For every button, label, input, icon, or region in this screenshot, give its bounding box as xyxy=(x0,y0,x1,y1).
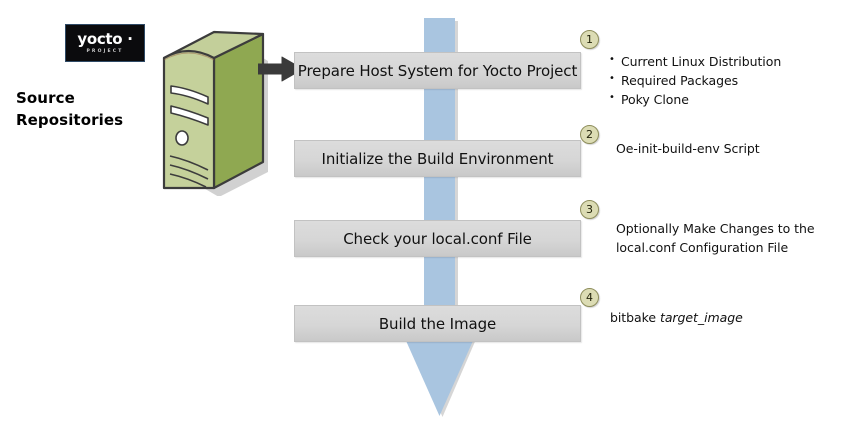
server-tower-icon xyxy=(118,24,268,196)
list-item: Poky Clone xyxy=(608,90,781,109)
source-label-line-2: Repositories xyxy=(16,110,123,132)
step-3-note-line-2: local.conf Configuration File xyxy=(616,238,831,257)
list-item: Current Linux Distribution xyxy=(608,52,781,71)
process-box-prepare-host[interactable]: Prepare Host System for Yocto Project xyxy=(294,52,581,89)
bitbake-command-prefix: bitbake xyxy=(610,310,660,325)
source-label-line-1: Source xyxy=(16,88,123,110)
step-note-3: Optionally Make Changes to the local.con… xyxy=(616,219,831,257)
source-repositories-label: Source Repositories xyxy=(16,88,123,132)
step-3-note-line-1: Optionally Make Changes to the xyxy=(616,219,831,238)
step-number-badge-2: 2 xyxy=(580,125,599,144)
step-number-badge-4: 4 xyxy=(580,288,599,307)
process-box-check-local-conf[interactable]: Check your local.conf File xyxy=(294,220,581,257)
process-box-build-image[interactable]: Build the Image xyxy=(294,305,581,342)
step-number-badge-1: 1 xyxy=(580,30,599,49)
step-1-bullet-list: Current Linux Distribution Required Pack… xyxy=(608,52,781,109)
step-number-badge-3: 3 xyxy=(580,200,599,219)
step-note-4: bitbake target_image xyxy=(610,308,743,327)
process-box-initialize-build-env[interactable]: Initialize the Build Environment xyxy=(294,140,581,177)
step-note-1: Current Linux Distribution Required Pack… xyxy=(608,52,781,109)
bitbake-command-target: target_image xyxy=(660,310,743,325)
step-note-2: Oe-init-build-env Script xyxy=(616,139,760,158)
diagram-canvas: yocto · PROJECT Source Repositories xyxy=(0,0,842,440)
list-item: Required Packages xyxy=(608,71,781,90)
